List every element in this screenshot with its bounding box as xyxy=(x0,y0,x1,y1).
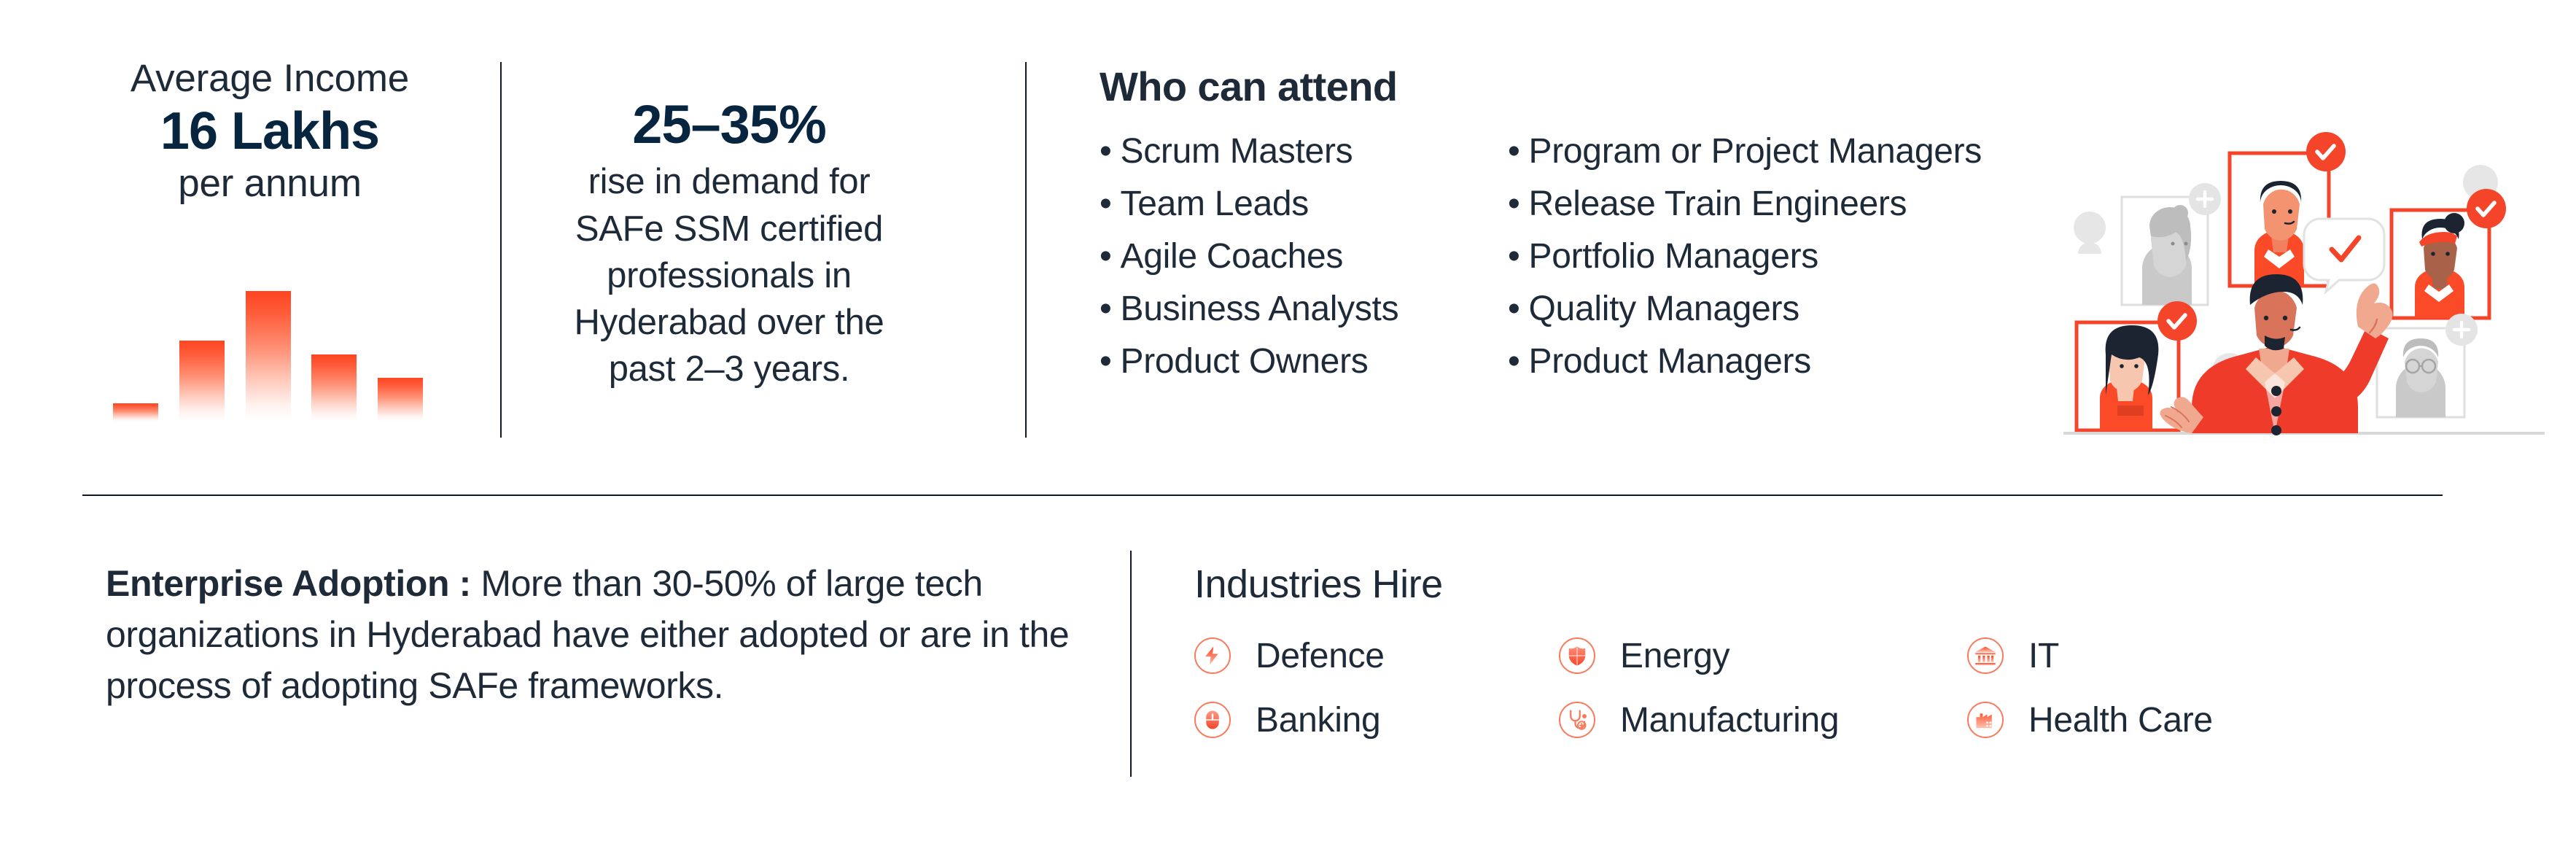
attendee-columns: •Scrum Masters •Team Leads •Agile Coache… xyxy=(1100,125,2047,388)
bullet-icon: • xyxy=(1508,290,1520,328)
demand-percentage: 25–35% xyxy=(547,95,911,154)
industry-label: Banking xyxy=(1256,700,1380,740)
attendee-label: Quality Managers xyxy=(1529,290,1799,328)
attendee-item: •Quality Managers xyxy=(1508,283,2047,336)
attendee-item: •Program or Project Managers xyxy=(1508,125,2047,178)
computer-mouse-icon xyxy=(1194,702,1231,738)
attendee-column-left: •Scrum Masters •Team Leads •Agile Coache… xyxy=(1100,125,1508,388)
industry-item-energy: Energy xyxy=(1559,636,1967,676)
who-can-attend-title: Who can attend xyxy=(1100,64,2047,109)
recruitment-candidate-selection-illustration xyxy=(2063,117,2545,438)
attendee-label: Business Analysts xyxy=(1121,290,1399,328)
average-income-panel: Average Income 16 Lakhs per annum xyxy=(73,57,467,206)
attendee-label: Product Managers xyxy=(1529,342,1811,381)
industry-item-banking: Banking xyxy=(1194,700,1559,740)
attendee-label: Scrum Masters xyxy=(1121,132,1353,171)
industry-label: Health Care xyxy=(2028,700,2213,740)
bar-3 xyxy=(246,291,291,422)
income-sub-label: per annum xyxy=(73,162,467,205)
industry-label: Defence xyxy=(1256,636,1385,676)
attendee-column-right: •Program or Project Managers •Release Tr… xyxy=(1508,125,2047,388)
attendee-item: •Business Analysts xyxy=(1100,283,1508,336)
attendee-label: Portfolio Managers xyxy=(1529,237,1818,276)
bullet-icon: • xyxy=(1508,132,1520,171)
bullet-icon: • xyxy=(1100,185,1112,223)
bullet-icon: • xyxy=(1100,290,1112,328)
factory-icon xyxy=(1967,702,2004,738)
attendee-label: Team Leads xyxy=(1121,185,1310,223)
bullet-icon: • xyxy=(1100,132,1112,171)
industries-hire-title: Industries Hire xyxy=(1194,563,2507,606)
industry-item-manufacturing: Manufacturing xyxy=(1559,700,1967,740)
demand-description: rise in demand for SAFe SSM certified pr… xyxy=(547,158,911,392)
bullet-icon: • xyxy=(1508,342,1520,381)
infographic-page: Average Income 16 Lakhs per annum 25–35%… xyxy=(0,0,2576,857)
attendee-item: •Scrum Masters xyxy=(1100,125,1508,178)
bullet-icon: • xyxy=(1508,185,1520,223)
attendee-item: •Release Train Engineers xyxy=(1508,178,2047,230)
enterprise-adoption-lead: Enterprise Adoption : xyxy=(106,563,471,604)
industry-label: Manufacturing xyxy=(1620,700,1839,740)
bar-5 xyxy=(378,378,423,422)
enterprise-adoption-text: Enterprise Adoption : More than 30-50% o… xyxy=(106,558,1075,711)
who-can-attend-panel: Who can attend •Scrum Masters •Team Lead… xyxy=(1100,64,2047,388)
bullet-icon: • xyxy=(1508,237,1520,276)
attendee-item: •Product Owners xyxy=(1100,336,1508,388)
enterprise-adoption-panel: Enterprise Adoption : More than 30-50% o… xyxy=(106,558,1075,711)
attendee-label: Release Train Engineers xyxy=(1529,185,1907,223)
attendee-item: •Product Managers xyxy=(1508,336,2047,388)
vertical-divider-1 xyxy=(500,62,502,438)
bar-4 xyxy=(311,354,357,422)
attendee-label: Program or Project Managers xyxy=(1529,132,1982,171)
demand-rise-panel: 25–35% rise in demand for SAFe SSM certi… xyxy=(547,95,911,392)
attendee-label: Product Owners xyxy=(1121,342,1369,381)
industry-item-health-care: Health Care xyxy=(1967,700,2317,740)
attendee-item: •Portfolio Managers xyxy=(1508,230,2047,283)
shield-icon xyxy=(1559,637,1595,674)
bar-2 xyxy=(179,341,225,422)
industry-label: Energy xyxy=(1620,636,1729,676)
attendee-item: •Agile Coaches xyxy=(1100,230,1508,283)
bar-1 xyxy=(113,403,158,422)
vertical-divider-3 xyxy=(1130,551,1132,777)
industry-item-it: IT xyxy=(1967,636,2317,676)
bank-building-icon xyxy=(1967,637,2004,674)
bullet-icon: • xyxy=(1100,237,1112,276)
industry-label: IT xyxy=(2028,636,2059,676)
horizontal-divider xyxy=(82,495,2443,496)
income-bar-chart xyxy=(113,261,423,422)
attendee-item: •Team Leads xyxy=(1100,178,1508,230)
attendee-label: Agile Coaches xyxy=(1121,237,1344,276)
industry-item-defence: Defence xyxy=(1194,636,1559,676)
lightning-bolt-icon xyxy=(1194,637,1231,674)
income-value: 16 Lakhs xyxy=(73,101,467,161)
bullet-icon: • xyxy=(1100,342,1112,381)
industries-hire-panel: Industries Hire Defence xyxy=(1194,563,2507,752)
income-label: Average Income xyxy=(73,57,467,100)
vertical-divider-2 xyxy=(1025,62,1027,438)
stethoscope-icon xyxy=(1559,702,1595,738)
industries-grid: Defence Energy xyxy=(1194,624,2507,752)
